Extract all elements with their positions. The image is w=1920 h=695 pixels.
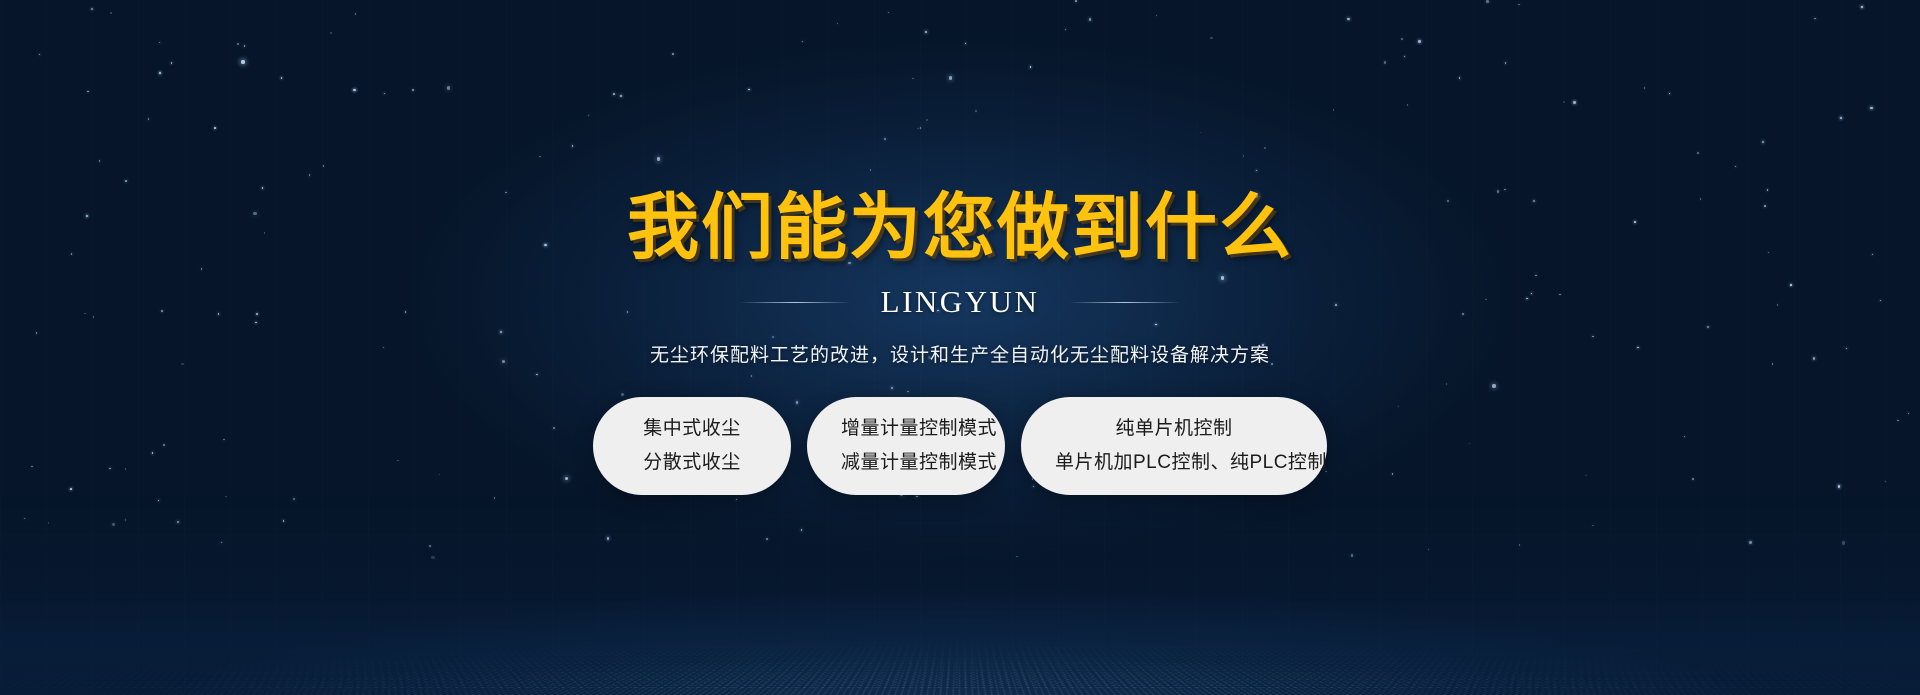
feature-card-list: 集中式收尘 分散式收尘 增量计量控制模式 减量计量控制模式 纯单片机控制 单片机… <box>0 397 1920 495</box>
brand-rule-right <box>1069 302 1181 303</box>
hero-banner: 我们能为您做到什么 LINGYUN 无尘环保配料工艺的改进，设计和生产全自动化无… <box>0 0 1920 695</box>
feature-card-dust-collection[interactable]: 集中式收尘 分散式收尘 <box>593 397 791 495</box>
wave-haze-overlay <box>0 495 1920 695</box>
feature-card-metering-mode[interactable]: 增量计量控制模式 减量计量控制模式 <box>807 397 1005 495</box>
card-line: 集中式收尘 <box>627 418 757 440</box>
brand-rule-left <box>739 302 851 303</box>
card-line: 纯单片机控制 <box>1055 418 1293 440</box>
card-line: 增量计量控制模式 <box>841 418 971 440</box>
brand-row: LINGYUN <box>0 284 1920 320</box>
wave-dot-mesh-back <box>0 624 1920 689</box>
card-line: 单片机加PLC控制、纯PLC控制 <box>1055 452 1293 474</box>
digital-wave-background <box>0 495 1920 695</box>
sub-description: 无尘环保配料工艺的改进，设计和生产全自动化无尘配料设备解决方案 <box>0 340 1920 367</box>
card-line: 分散式收尘 <box>627 452 757 474</box>
card-line: 减量计量控制模式 <box>841 452 971 474</box>
feature-card-control-system[interactable]: 纯单片机控制 单片机加PLC控制、纯PLC控制 <box>1021 397 1327 495</box>
page-title: 我们能为您做到什么 <box>0 186 1920 268</box>
brand-name: LINGYUN <box>881 284 1040 320</box>
wave-dot-mesh-front <box>0 644 1920 695</box>
banner-content: 我们能为您做到什么 LINGYUN 无尘环保配料工艺的改进，设计和生产全自动化无… <box>0 0 1920 495</box>
wave-ridge-glow <box>110 585 1810 695</box>
